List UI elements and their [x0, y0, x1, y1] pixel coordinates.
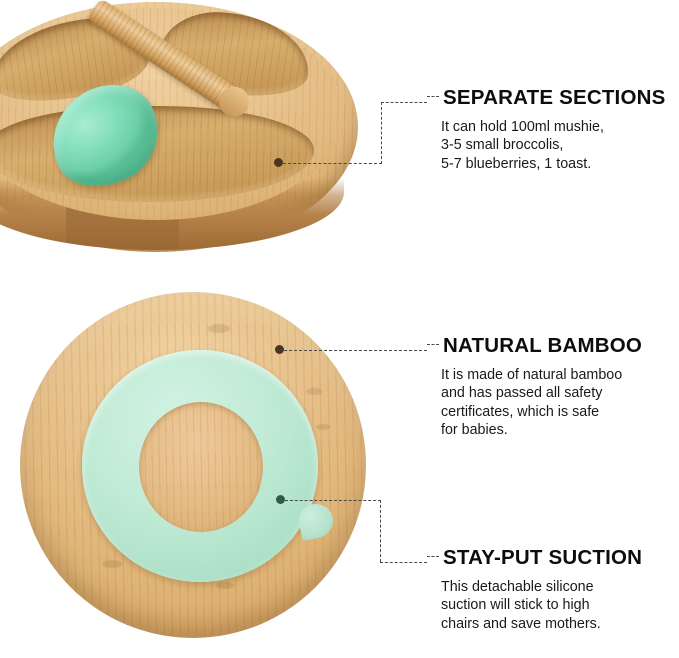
callout-lead-dash-icon: [427, 344, 439, 345]
infographic-canvas: SEPARATE SECTIONS It can hold 100ml mush…: [0, 0, 679, 658]
callout-dot-natural-bamboo: [275, 345, 284, 354]
callout-line-h-separate-sections: [283, 163, 382, 164]
callout-body-natural-bamboo: It is made of natural bamboo and has pas…: [427, 366, 642, 440]
callout-heading-separate-sections: SEPARATE SECTIONS: [427, 88, 665, 109]
bamboo-grain-speck: [306, 388, 322, 395]
callout-dot-stay-put-suction: [276, 495, 285, 504]
callout-heading-natural-bamboo: NATURAL BAMBOO: [427, 336, 642, 357]
callout-dot-separate-sections: [274, 158, 283, 167]
bamboo-grain-speck: [216, 582, 234, 589]
callout-line-v-stay-put-suction: [380, 500, 381, 562]
callout-line-h-stay-put-suction: [285, 500, 381, 501]
product-photo-divided-plate: [0, 2, 358, 252]
callout-body-stay-put-suction: This detachable silicone suction will st…: [427, 578, 642, 634]
callout-text-stay-put-suction: STAY-PUT SUCTION This detachable silicon…: [427, 548, 642, 633]
bamboo-grain-speck: [102, 560, 122, 568]
callout-heading-stay-put-suction: STAY-PUT SUCTION: [427, 548, 642, 569]
baby-spoon: [42, 0, 284, 196]
suction-ring-inner-opening: [139, 402, 263, 532]
bamboo-grain-speck: [316, 424, 330, 430]
callout-line-h2-stay-put-suction: [380, 562, 427, 563]
callout-body-separate-sections: It can hold 100ml mushie, 3-5 small broc…: [427, 118, 665, 174]
callout-line-h2-separate-sections: [381, 102, 427, 103]
product-photo-plate-underside: [20, 292, 366, 642]
callout-lead-dash-icon: [427, 556, 439, 557]
callout-text-separate-sections: SEPARATE SECTIONS It can hold 100ml mush…: [427, 88, 665, 173]
silicone-suction-ring: [82, 350, 318, 582]
callout-line-h-natural-bamboo: [284, 350, 427, 351]
spoon-silicone-bowl: [35, 69, 176, 204]
callout-lead-dash-icon: [427, 96, 439, 97]
callout-text-natural-bamboo: NATURAL BAMBOO It is made of natural bam…: [427, 336, 642, 440]
bamboo-grain-speck: [208, 324, 230, 333]
callout-line-v-separate-sections: [381, 102, 382, 164]
